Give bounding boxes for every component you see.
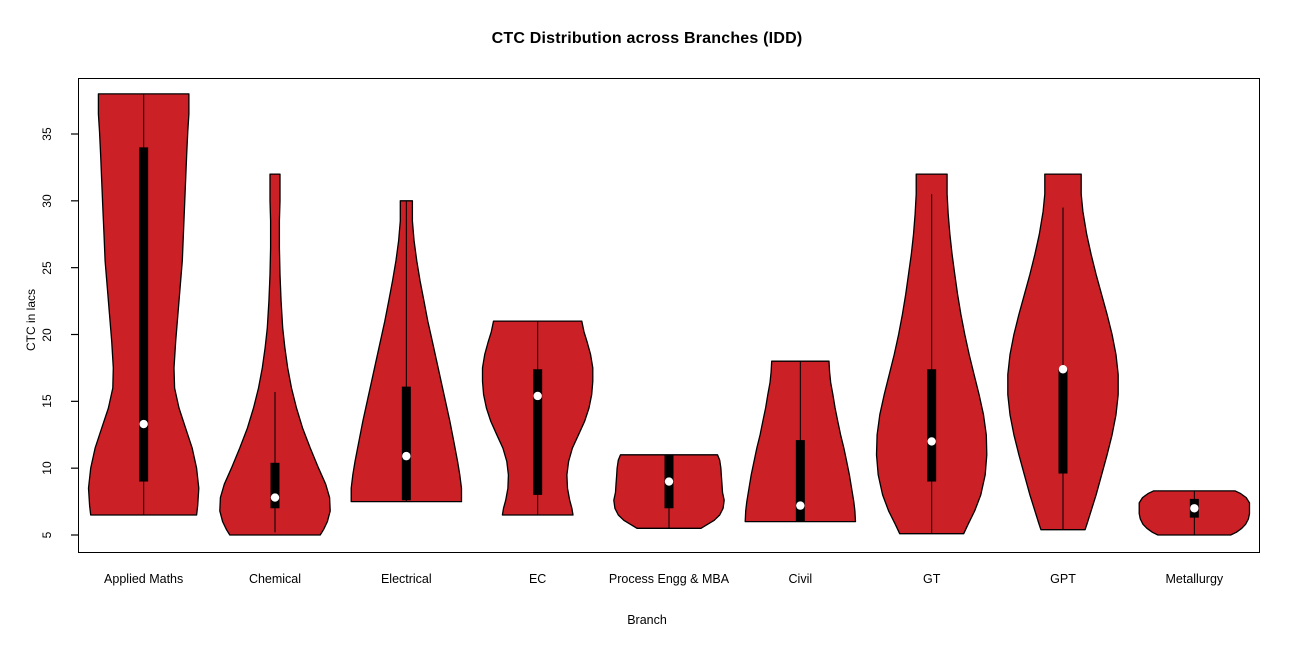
- violin-gt: [877, 174, 987, 534]
- violin-metallurgy: [1139, 491, 1249, 535]
- violin-electrical: [351, 201, 461, 502]
- violin-applied-maths: [89, 94, 199, 515]
- violin-gpt: [1008, 174, 1118, 530]
- violin-plot-figure: CTC Distribution across Branches (IDD) C…: [0, 0, 1294, 653]
- violin-chemical: [220, 174, 330, 535]
- violin-civil: [745, 361, 855, 521]
- violin-plot-canvas: [0, 0, 1294, 653]
- violin-process-engg-mba: [614, 455, 724, 529]
- violin-ec: [483, 321, 593, 515]
